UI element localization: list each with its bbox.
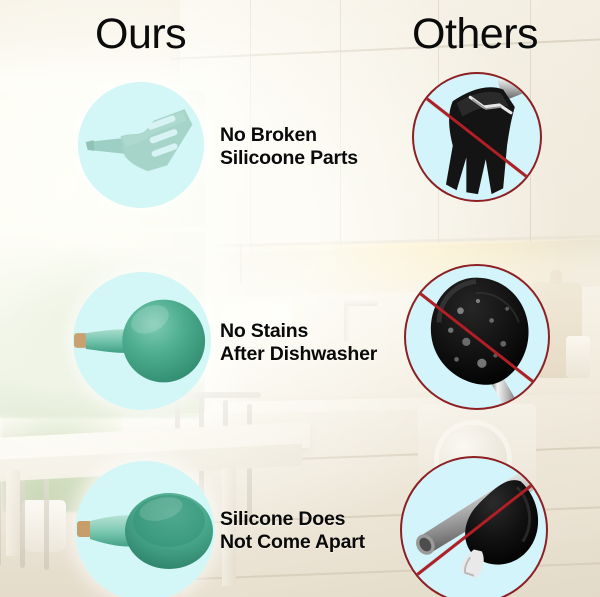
- feature-label-no-stains: No Stains After Dishwasher: [220, 320, 377, 366]
- ours-disc-no-stains: [73, 272, 211, 410]
- comparison-infographic: Ours Others: [0, 0, 600, 597]
- others-disc-broken-parts: [412, 72, 542, 202]
- mint-slotted-turner-icon: [78, 82, 204, 208]
- heading-others: Others: [412, 13, 538, 56]
- ours-disc-not-come-apart: [75, 461, 215, 597]
- others-disc-comes-apart: [400, 456, 548, 597]
- ours-disc-no-broken-parts: [78, 82, 204, 208]
- green-spoon-icon: [75, 461, 215, 597]
- feature-label-no-broken-parts: No Broken Silicoone Parts: [220, 124, 358, 170]
- heading-ours: Ours: [95, 13, 186, 56]
- others-disc-stains: [404, 264, 550, 410]
- green-ladle-icon: [73, 272, 211, 410]
- feature-label-not-come-apart: Silicone Does Not Come Apart: [220, 508, 365, 554]
